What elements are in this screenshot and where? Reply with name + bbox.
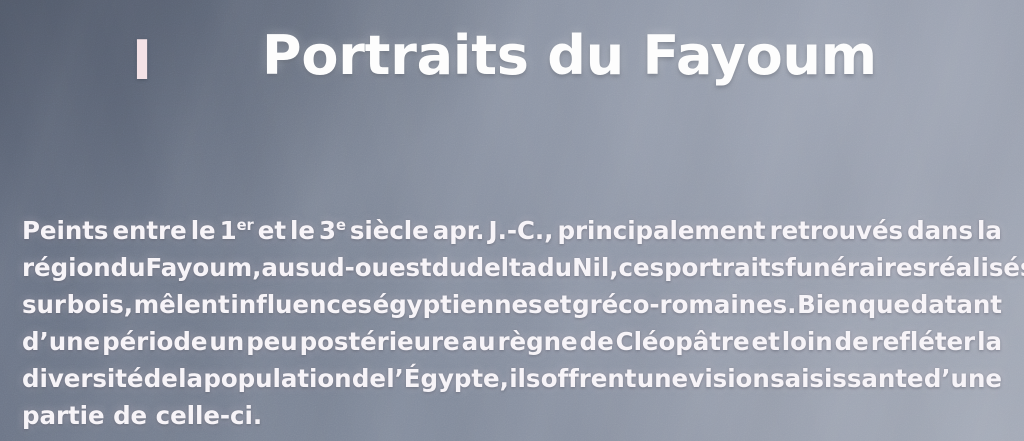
body-word: de	[144, 360, 178, 397]
panel-body-text: Peintsentrele1eretle3esiècleapr.J.-C.,pr…	[22, 212, 1002, 434]
body-word: offrent	[541, 360, 637, 397]
body-line: régionduFayoum,ausud-ouestdudeltaduNil,c…	[22, 249, 1002, 286]
body-word: au	[462, 323, 496, 360]
body-line: Peintsentrele1eretle3esiècleapr.J.-C.,pr…	[22, 212, 1002, 249]
body-word: la	[977, 323, 1002, 360]
body-word: Nil,	[572, 249, 618, 286]
body-word: siècle	[350, 212, 429, 249]
body-word: la	[178, 360, 203, 397]
body-word: la	[977, 212, 1002, 249]
body-line: partie de celle-ci.	[22, 397, 1002, 434]
body-word: de	[580, 323, 614, 360]
body-word: loin	[782, 323, 833, 360]
body-word: 1er	[220, 212, 254, 249]
ordinal-suffix: er	[237, 217, 254, 234]
body-word: le	[290, 212, 315, 249]
body-word: période	[102, 323, 207, 360]
body-word: l’Égypte,	[386, 360, 509, 397]
body-word: postérieure	[300, 323, 460, 360]
body-word: funéraires	[785, 249, 927, 286]
body-line: diversitédelapopulationdel’Égypte,ilsoff…	[22, 360, 1002, 397]
body-word: refléter	[871, 323, 975, 360]
body-word: Bien	[797, 286, 858, 323]
body-word: région	[22, 249, 111, 286]
body-word: sud-ouest	[295, 249, 431, 286]
body-word: réalisés	[927, 249, 1024, 286]
body-word: du	[537, 249, 572, 286]
body-word: ces	[618, 249, 664, 286]
body-word: au	[261, 249, 295, 286]
body-word: et	[543, 286, 571, 323]
body-word: peu	[246, 323, 297, 360]
body-word: 3e	[319, 212, 346, 249]
body-word: portraits	[664, 249, 785, 286]
body-word: de	[835, 323, 869, 360]
body-word: dans	[907, 212, 973, 249]
ordinal-suffix: e	[336, 217, 346, 234]
body-word: influences	[230, 286, 372, 323]
body-word: population	[203, 360, 351, 397]
panel-content: I Portraits du Fayoum Peintsentrele1eret…	[0, 0, 1024, 441]
body-word: d’une	[22, 323, 100, 360]
body-word: saisissante	[770, 360, 923, 397]
body-word: et	[258, 212, 286, 249]
body-word: Peints	[22, 212, 108, 249]
body-word: gréco-romaines.	[572, 286, 796, 323]
body-word: delta	[467, 249, 538, 286]
section-numeral: I	[132, 34, 153, 88]
body-word: Cléopâtre	[616, 323, 750, 360]
body-word: du	[432, 249, 467, 286]
body-word: égyptiennes	[373, 286, 543, 323]
body-word: sur	[22, 286, 66, 323]
body-word: mêlent	[134, 286, 230, 323]
body-word: vision	[688, 360, 769, 397]
body-word: retrouvés	[770, 212, 904, 249]
exhibition-wall-panel: I Portraits du Fayoum Peintsentrele1eret…	[0, 0, 1024, 441]
body-word: Fayoum,	[146, 249, 262, 286]
body-word: ils	[509, 360, 540, 397]
body-word: du	[111, 249, 146, 286]
body-word: que	[859, 286, 910, 323]
body-word: apr.	[433, 212, 485, 249]
body-word: et	[752, 323, 780, 360]
body-line: surbois,mêlentinfluenceségyptiennesetgré…	[22, 286, 1002, 323]
body-word: J.-C.,	[489, 212, 554, 249]
body-word: un	[209, 323, 244, 360]
body-word: principalement	[557, 212, 765, 249]
body-word: diversité	[22, 360, 143, 397]
body-word: règne	[498, 323, 578, 360]
body-word: une	[637, 360, 688, 397]
body-word: entre	[112, 212, 186, 249]
body-word: datant	[911, 286, 1002, 323]
body-word: de	[352, 360, 386, 397]
body-word: bois,	[67, 286, 133, 323]
body-line: d’unepériodeunpeupostérieureaurègnedeClé…	[22, 323, 1002, 360]
body-word: d’une	[924, 360, 1002, 397]
page-title: Portraits du Fayoum	[262, 24, 877, 88]
body-word: le	[191, 212, 216, 249]
panel-header: I Portraits du Fayoum	[0, 16, 1024, 88]
